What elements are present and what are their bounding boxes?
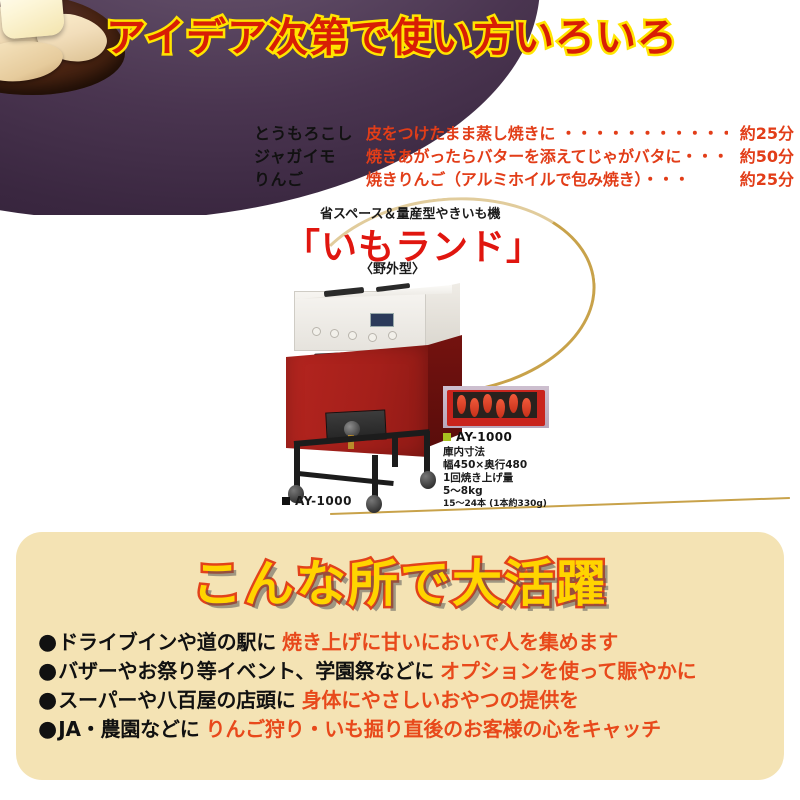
spec-line: 幅450×奥行480 <box>443 459 563 472</box>
bullet-dot-icon: ● <box>38 632 57 654</box>
butter-block <box>0 0 65 40</box>
machine-knob <box>368 333 377 342</box>
machine-knob <box>348 331 357 340</box>
scenario-list: ● ドライブインや道の駅に 焼き上げに甘いにおいで人を集めます ● バザーやお祭… <box>38 626 768 742</box>
usage-item-desc: 皮をつけたまま蒸し焼きに ・・・・・・・・・・・・ <box>366 120 728 144</box>
scenario-label: バザーやお祭り等イベント、学園祭などに <box>58 655 434 684</box>
list-item: ● ドライブインや道の駅に 焼き上げに甘いにおいで人を集めます <box>38 626 768 655</box>
machine-frame-leg <box>294 443 300 491</box>
spec-block: AY-1000 庫内寸法 幅450×奥行480 1回焼き上げ量 5〜8kg 15… <box>443 430 563 510</box>
scenario-text: りんご狩り・いも掘り直後のお客様の心をキャッチ <box>206 713 661 742</box>
usage-item-name: とうもろこし <box>254 120 366 144</box>
scenario-label: JA・農園などに <box>58 713 199 742</box>
machine-caster <box>366 495 382 513</box>
machine-caster <box>420 471 436 489</box>
scenario-text: 身体にやさしいおやつの提供を <box>302 684 579 713</box>
machine-top-panel <box>294 291 426 351</box>
spec-line: 15〜24本 (1本約330g) <box>443 499 563 510</box>
usage-item-name: ジャガイモ <box>254 143 366 167</box>
page-title: アイデア次第で使い方いろいろ <box>106 16 678 60</box>
product-type: 〈野外型〉 <box>360 258 425 277</box>
machine-frame-rail <box>298 471 394 486</box>
usage-item-desc: 焼きあがったらバターを添えてじゃがバタに・・・ <box>366 143 728 167</box>
spec-line: 庫内寸法 <box>443 446 563 459</box>
scenario-label: ドライブインや道の駅に <box>58 626 276 655</box>
machine-caption: AY-1000 <box>282 494 352 508</box>
machine-knob <box>330 329 339 338</box>
black-square-bullet-icon <box>282 497 290 505</box>
machine-knob <box>312 327 321 336</box>
green-square-bullet-icon <box>443 433 451 441</box>
machine-display <box>370 313 394 327</box>
scenario-text: 焼き上げに甘いにおいで人を集めます <box>282 626 618 655</box>
scenario-label: スーパーや八百屋の店頭に <box>58 684 295 713</box>
list-item: ● スーパーや八百屋の店頭に 身体にやさしいおやつの提供を <box>38 684 768 713</box>
usage-item-time: 約25分 <box>728 120 794 144</box>
panel-title: こんな所で大活躍 <box>16 544 784 616</box>
usage-table: とうもろこし 皮をつけたまま蒸し焼きに ・・・・・・・・・・・・ 約25分 ジャ… <box>254 120 794 189</box>
machine-frame-leg <box>392 433 398 467</box>
usage-item-time: 約50分 <box>728 143 794 167</box>
list-item: ● バザーやお祭り等イベント、学園祭などに オプションを使って賑やかに <box>38 655 768 684</box>
usage-row: りんご 焼きりんご（アルミホイルで包み焼き）・・・ 約25分 <box>254 166 794 189</box>
usage-row: ジャガイモ 焼きあがったらバターを添えてじゃがバタに・・・ 約50分 <box>254 143 794 166</box>
spec-model-row: AY-1000 <box>443 430 563 444</box>
spec-model-label: AY-1000 <box>456 430 512 444</box>
usage-scenarios-panel: こんな所で大活躍 ● ドライブインや道の駅に 焼き上げに甘いにおいで人を集めます… <box>16 532 784 780</box>
machine-model-label: AY-1000 <box>295 494 352 508</box>
machine-photo <box>272 283 472 508</box>
machine-knob <box>388 331 397 340</box>
spec-line: 5〜8kg <box>443 485 563 498</box>
usage-item-desc: 焼きりんご（アルミホイルで包み焼き）・・・ <box>366 166 728 190</box>
spec-line: 1回焼き上げ量 <box>443 472 563 485</box>
bullet-dot-icon: ● <box>38 719 57 741</box>
list-item: ● JA・農園などに りんご狩り・いも掘り直後のお客様の心をキャッチ <box>38 713 768 742</box>
usage-item-name: りんご <box>254 166 366 190</box>
sweet-potato-tray-photo <box>443 386 549 428</box>
bullet-dot-icon: ● <box>38 661 57 683</box>
usage-row: とうもろこし 皮をつけたまま蒸し焼きに ・・・・・・・・・・・・ 約25分 <box>254 120 794 143</box>
scenario-text: オプションを使って賑やかに <box>440 655 696 684</box>
usage-item-time: 約25分 <box>728 166 794 190</box>
bullet-dot-icon: ● <box>38 690 57 712</box>
